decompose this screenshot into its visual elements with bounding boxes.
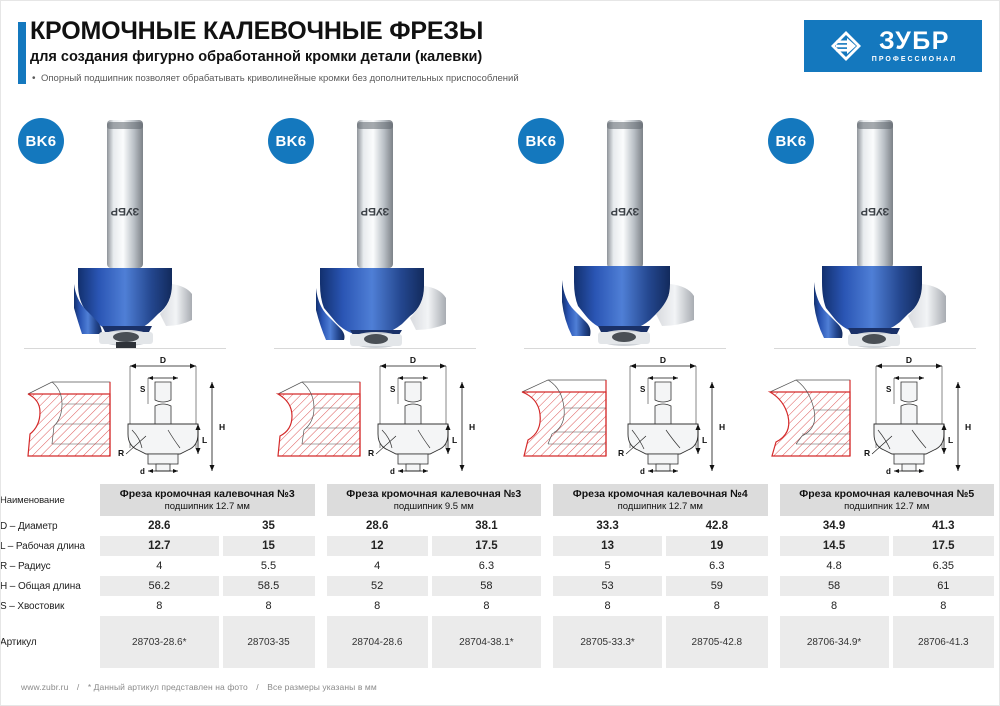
cell-working-length: 19 <box>666 536 767 556</box>
cell-radius: 5 <box>553 556 662 576</box>
svg-text:H: H <box>719 422 725 432</box>
cell-total-length: 59 <box>666 576 767 596</box>
spec-table: Фреза кромочная калевочная №4 подшипник … <box>553 484 768 668</box>
cell-radius: 5.5 <box>223 556 315 576</box>
page-subtitle: для создания фигурно обработанной кромки… <box>30 49 519 66</box>
svg-text:L: L <box>702 435 707 445</box>
footer-photo-note: * Данный артикул представлен на фото <box>88 682 248 692</box>
cell-article: 28706-41.3 <box>893 616 994 668</box>
svg-text:d: d <box>390 467 395 476</box>
svg-text:R: R <box>118 448 124 458</box>
cell-working-length: 15 <box>223 536 315 556</box>
profile-and-dimension-drawing: D S H L R <box>250 352 500 480</box>
cell-total-length: 52 <box>327 576 428 596</box>
footer-separator: / <box>77 682 79 692</box>
spec-block: Фреза кромочная калевочная №3 подшипник … <box>100 484 321 668</box>
cell-working-length: 17.5 <box>893 536 994 556</box>
cell-diameter: 28.6 <box>100 516 219 536</box>
cell-working-length: 17.5 <box>432 536 541 556</box>
spec-block-header: Фреза кромочная калевочная №3 подшипник … <box>327 484 542 516</box>
spec-block-bearing: подшипник 9.5 мм <box>329 501 540 513</box>
cell-total-length: 58 <box>780 576 889 596</box>
svg-text:d: d <box>140 467 145 476</box>
row-label-article: Артикул <box>0 616 100 668</box>
spec-block-header: Фреза кромочная калевочная №3 подшипник … <box>100 484 315 516</box>
page-title: КРОМОЧНЫЕ КАЛЕВОЧНЫЕ ФРЕЗЫ <box>30 18 519 45</box>
svg-text:R: R <box>368 448 374 458</box>
cell-diameter: 33.3 <box>553 516 662 536</box>
svg-text:ЗУБР: ЗУБР <box>361 205 390 217</box>
svg-text:D: D <box>410 355 416 365</box>
cell-radius: 4 <box>100 556 219 576</box>
brand-logo: ЗУБР ПРОФЕССИОНАЛ <box>804 20 982 72</box>
cell-total-length: 58.5 <box>223 576 315 596</box>
router-bit-image: ЗУБР <box>290 108 460 348</box>
svg-text:ЗУБР: ЗУБР <box>611 205 640 217</box>
router-bit-image: ЗУБР <box>40 108 210 348</box>
svg-text:D: D <box>906 355 912 365</box>
svg-text:D: D <box>160 355 166 365</box>
row-label-radius: R – Радиус <box>0 556 100 576</box>
cell-diameter: 42.8 <box>666 516 767 536</box>
drawing-cell: D S H L R <box>500 348 750 484</box>
footer-separator: / <box>256 682 258 692</box>
svg-text:H: H <box>219 422 225 432</box>
feature-list: Опорный подшипник позволяет обрабатывать… <box>30 73 519 85</box>
logo-wordmark: ЗУБР ПРОФЕССИОНАЛ <box>872 29 957 63</box>
spec-block-bearing: подшипник 12.7 мм <box>102 501 313 513</box>
cell-diameter: 28.6 <box>327 516 428 536</box>
footer-website[interactable]: www.zubr.ru <box>21 682 68 692</box>
svg-text:ЗУБР: ЗУБР <box>111 205 140 217</box>
router-bit-image: ЗУБР <box>540 108 710 348</box>
spec-block: Фреза кромочная калевочная №5 подшипник … <box>774 484 1000 668</box>
row-label-shank: S – Хвостовик <box>0 596 100 616</box>
spec-block-title: Фреза кромочная калевочная №3 <box>120 488 295 500</box>
profile-and-dimension-drawing: D S H <box>0 352 250 480</box>
cell-radius: 4 <box>327 556 428 576</box>
row-label-diameter: D – Диаметр <box>0 516 100 536</box>
svg-text:D: D <box>660 355 666 365</box>
cell-radius: 4.8 <box>780 556 889 576</box>
product-photo-strip: BK6 ЗУБР <box>0 100 1000 348</box>
svg-text:ЗУБР: ЗУБР <box>861 205 890 217</box>
logo-tagline-text: ПРОФЕССИОНАЛ <box>872 56 957 63</box>
row-label-name: Наименование <box>0 484 100 516</box>
spec-block-header: Фреза кромочная калевочная №5 подшипник … <box>780 484 995 516</box>
product-photo-cell: BK6 ЗУБР <box>250 100 500 348</box>
spec-block-title: Фреза кромочная калевочная №4 <box>573 488 748 500</box>
page-footer: www.zubr.ru / * Данный артикул представл… <box>18 682 380 692</box>
technical-drawing-strip: D S H <box>0 348 1000 484</box>
cell-total-length: 53 <box>553 576 662 596</box>
cell-shank: 8 <box>223 596 315 616</box>
cell-total-length: 56.2 <box>100 576 219 596</box>
specification-tables: Наименование D – Диаметр L – Рабочая дли… <box>0 484 1000 668</box>
drawing-cell: D S H L R <box>750 348 1000 484</box>
logo-brand-text: ЗУБР <box>879 29 950 54</box>
cell-article: 28705-42.8 <box>666 616 767 668</box>
product-photo-cell: BK6 ЗУБР <box>500 100 750 348</box>
spec-block-title: Фреза кромочная калевочная №5 <box>799 488 974 500</box>
svg-text:H: H <box>965 422 971 432</box>
cell-shank: 8 <box>432 596 541 616</box>
svg-text:S: S <box>640 385 646 394</box>
svg-text:R: R <box>864 448 870 458</box>
feature-list-item: Опорный подшипник позволяет обрабатывать… <box>30 73 519 85</box>
svg-text:S: S <box>140 385 146 394</box>
cell-shank: 8 <box>666 596 767 616</box>
cell-shank: 8 <box>327 596 428 616</box>
page-header: КРОМОЧНЫЕ КАЛЕВОЧНЫЕ ФРЕЗЫ для создания … <box>0 0 1000 100</box>
cell-article: 28705-33.3* <box>553 616 662 668</box>
spec-row-label-column: Наименование D – Диаметр L – Рабочая дли… <box>0 484 100 668</box>
cell-shank: 8 <box>780 596 889 616</box>
cell-article: 28703-35 <box>223 616 315 668</box>
cell-working-length: 13 <box>553 536 662 556</box>
cell-working-length: 12.7 <box>100 536 219 556</box>
row-label-total-length: H – Общая длина <box>0 576 100 596</box>
cell-radius: 6.35 <box>893 556 994 576</box>
drawing-cell: D S H <box>0 348 250 484</box>
router-bit-image: ЗУБР <box>790 108 960 348</box>
footer-units-note: Все размеры указаны в мм <box>267 682 377 692</box>
product-photo-cell: BK6 ЗУБР <box>750 100 1000 348</box>
svg-text:H: H <box>469 422 475 432</box>
spec-block: Фреза кромочная калевочная №3 подшипник … <box>321 484 548 668</box>
cell-article: 28706-34.9* <box>780 616 889 668</box>
row-label-working-length: L – Рабочая длина <box>0 536 100 556</box>
cell-article: 28703-28.6* <box>100 616 219 668</box>
profile-and-dimension-drawing: D S H L R <box>500 352 750 480</box>
cell-diameter: 35 <box>223 516 315 536</box>
spec-table: Фреза кромочная калевочная №3 подшипник … <box>327 484 542 668</box>
cell-diameter: 34.9 <box>780 516 889 536</box>
svg-text:d: d <box>640 467 645 476</box>
cell-radius: 6.3 <box>666 556 767 576</box>
product-photo-cell: BK6 ЗУБР <box>0 100 250 348</box>
spec-table: Фреза кромочная калевочная №3 подшипник … <box>100 484 315 668</box>
cell-article: 28704-38.1* <box>432 616 541 668</box>
svg-text:S: S <box>390 385 396 394</box>
header-text-group: КРОМОЧНЫЕ КАЛЕВОЧНЫЕ ФРЕЗЫ для создания … <box>30 18 519 85</box>
spec-block-bearing: подшипник 12.7 мм <box>555 501 766 513</box>
header-accent-bar <box>18 22 26 84</box>
svg-text:L: L <box>452 435 457 445</box>
arrow-in-diamond-icon <box>829 29 863 63</box>
cell-radius: 6.3 <box>432 556 541 576</box>
svg-text:S: S <box>886 385 892 394</box>
svg-text:R: R <box>618 448 624 458</box>
cell-working-length: 12 <box>327 536 428 556</box>
cell-article: 28704-28.6 <box>327 616 428 668</box>
cell-total-length: 61 <box>893 576 994 596</box>
spec-block: Фреза кромочная калевочная №4 подшипник … <box>547 484 774 668</box>
svg-text:d: d <box>886 467 891 476</box>
profile-and-dimension-drawing: D S H L R <box>750 352 1000 480</box>
spec-table: Фреза кромочная калевочная №5 подшипник … <box>780 484 995 668</box>
cell-diameter: 38.1 <box>432 516 541 536</box>
svg-text:L: L <box>948 435 953 445</box>
cell-diameter: 41.3 <box>893 516 994 536</box>
cell-total-length: 58 <box>432 576 541 596</box>
drawing-cell: D S H L R <box>250 348 500 484</box>
spec-block-bearing: подшипник 12.7 мм <box>782 501 993 513</box>
spec-block-title: Фреза кромочная калевочная №3 <box>346 488 521 500</box>
cell-shank: 8 <box>100 596 219 616</box>
spec-block-header: Фреза кромочная калевочная №4 подшипник … <box>553 484 768 516</box>
cell-working-length: 14.5 <box>780 536 889 556</box>
cell-shank: 8 <box>553 596 662 616</box>
cell-shank: 8 <box>893 596 994 616</box>
svg-text:L: L <box>202 435 207 445</box>
